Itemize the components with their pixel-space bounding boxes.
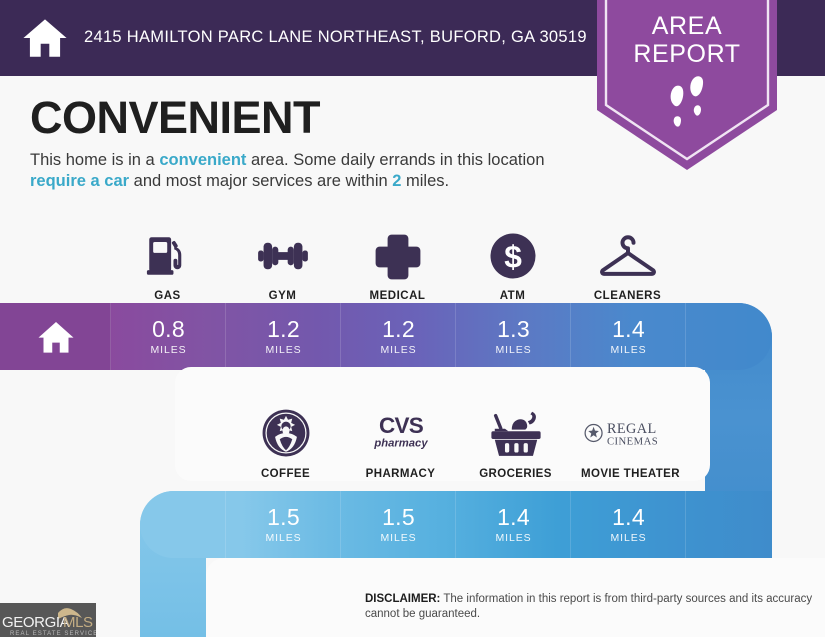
svg-text:CINEMAS: CINEMAS [606,436,657,448]
cvs-pharmacy-logo-icon: CVS pharmacy [365,405,437,461]
distance-cell-groceries: 1.4 MILES [456,491,571,558]
starbucks-logo-icon [261,405,311,461]
distance-cell-atm: 1.3 MILES [456,303,571,370]
amenity-label: GAS [154,290,180,302]
home-icon [22,15,68,61]
summary-part-4: miles. [401,172,449,190]
summary-part-1: This home is in a [30,151,159,169]
summary-part-3: and most major services are within [129,172,392,190]
amenity-label: COFFEE [261,468,310,480]
page-title: CONVENIENT [30,92,320,144]
amenity-pharmacy: CVS pharmacy PHARMACY [343,392,458,480]
band-corner-left [140,491,226,558]
distance-value: 0.8 [152,318,185,341]
amenity-icon-row-secondary: COFFEE CVS pharmacy PHARMACY [228,392,690,480]
amenity-label: GYM [269,290,297,302]
summary-part-2: area. Some daily errands in this locatio… [246,151,544,169]
regal-cinemas-logo-icon: REGAL CINEMAS [582,405,680,461]
svg-text:$: $ [504,239,522,275]
area-report-page: 2415 HAMILTON PARC LANE NORTHEAST, BUFOR… [0,0,825,637]
svg-text:MLS: MLS [63,614,93,631]
summary-text: This home is in a convenient area. Some … [30,150,590,192]
distance-value: 1.4 [612,506,645,529]
amenity-label: ATM [500,290,526,302]
distance-unit: MILES [610,344,646,356]
distance-value: 1.2 [382,318,415,341]
amenity-coffee: COFFEE [228,392,343,480]
amenity-label: CLEANERS [594,290,661,302]
distance-value: 1.5 [382,506,415,529]
amenity-medical: MEDICAL [340,222,455,302]
distance-unit: MILES [265,532,301,544]
dumbbell-icon [255,229,311,281]
svg-text:REGAL: REGAL [606,421,656,437]
distance-unit: MILES [265,344,301,356]
amenity-label: PHARMACY [366,468,436,480]
distance-unit: MILES [495,532,531,544]
badge-shape [589,0,785,174]
amenity-movie-theater: REGAL CINEMAS MOVIE THEATER [573,392,688,480]
amenity-label: MOVIE THEATER [581,468,680,480]
distance-value: 1.5 [267,506,300,529]
summary-highlight-1: convenient [159,151,246,169]
medical-cross-icon [374,229,422,281]
clothes-hanger-icon [598,229,658,281]
amenity-groceries: GROCERIES [458,392,573,480]
distance-value: 1.3 [497,318,530,341]
distance-value: 1.4 [612,318,645,341]
distance-cell-pharmacy: 1.5 MILES [341,491,456,558]
amenity-label: GROCERIES [479,468,552,480]
home-icon [36,317,76,357]
distance-cell-movie-theater: 1.4 MILES [571,491,686,558]
amenity-icon-row-primary: GAS GYM MEDICAL [110,222,745,302]
distance-cell-coffee: 1.5 MILES [226,491,341,558]
atm-dollar-icon: $ [488,229,538,281]
property-address: 2415 HAMILTON PARC LANE NORTHEAST, BUFOR… [84,27,587,49]
distance-bar-primary: 0.8 MILES 1.2 MILES 1.2 MILES 1.3 MILES … [0,303,772,370]
amenity-gym: GYM [225,222,340,302]
area-report-badge: AREA REPORT [589,0,785,174]
disclaimer-label: DISCLAIMER: [365,593,440,605]
distance-unit: MILES [495,344,531,356]
distance-bar-secondary: 1.5 MILES 1.5 MILES 1.4 MILES 1.4 MILES [140,491,772,558]
amenity-gas: GAS [110,222,225,302]
svg-text:REAL ESTATE SERVICES: REAL ESTATE SERVICES [10,631,96,637]
distance-cell-medical: 1.2 MILES [341,303,456,370]
distance-cell-gym: 1.2 MILES [226,303,341,370]
summary-highlight-2: require a car [30,172,129,190]
distance-unit: MILES [150,344,186,356]
distance-unit: MILES [380,532,416,544]
svg-text:pharmacy: pharmacy [373,438,428,450]
distance-unit: MILES [380,344,416,356]
gas-pump-icon [143,229,193,281]
band-home-marker [0,303,111,370]
distance-cell-cleaners: 1.4 MILES [571,303,686,370]
amenity-label: MEDICAL [370,290,426,302]
distance-unit: MILES [610,532,646,544]
amenity-cleaners: CLEANERS [570,222,685,302]
distance-value: 1.4 [497,506,530,529]
grocery-basket-icon [488,405,544,461]
svg-text:GEORGIA: GEORGIA [2,614,70,631]
distance-cell-gas: 0.8 MILES [111,303,226,370]
disclaimer-text: DISCLAIMER: The information in this repo… [365,592,815,622]
georgia-mls-logo: GEORGIA MLS REAL ESTATE SERVICES [0,603,96,637]
svg-text:CVS: CVS [378,413,423,438]
distance-value: 1.2 [267,318,300,341]
amenity-atm: $ ATM [455,222,570,302]
